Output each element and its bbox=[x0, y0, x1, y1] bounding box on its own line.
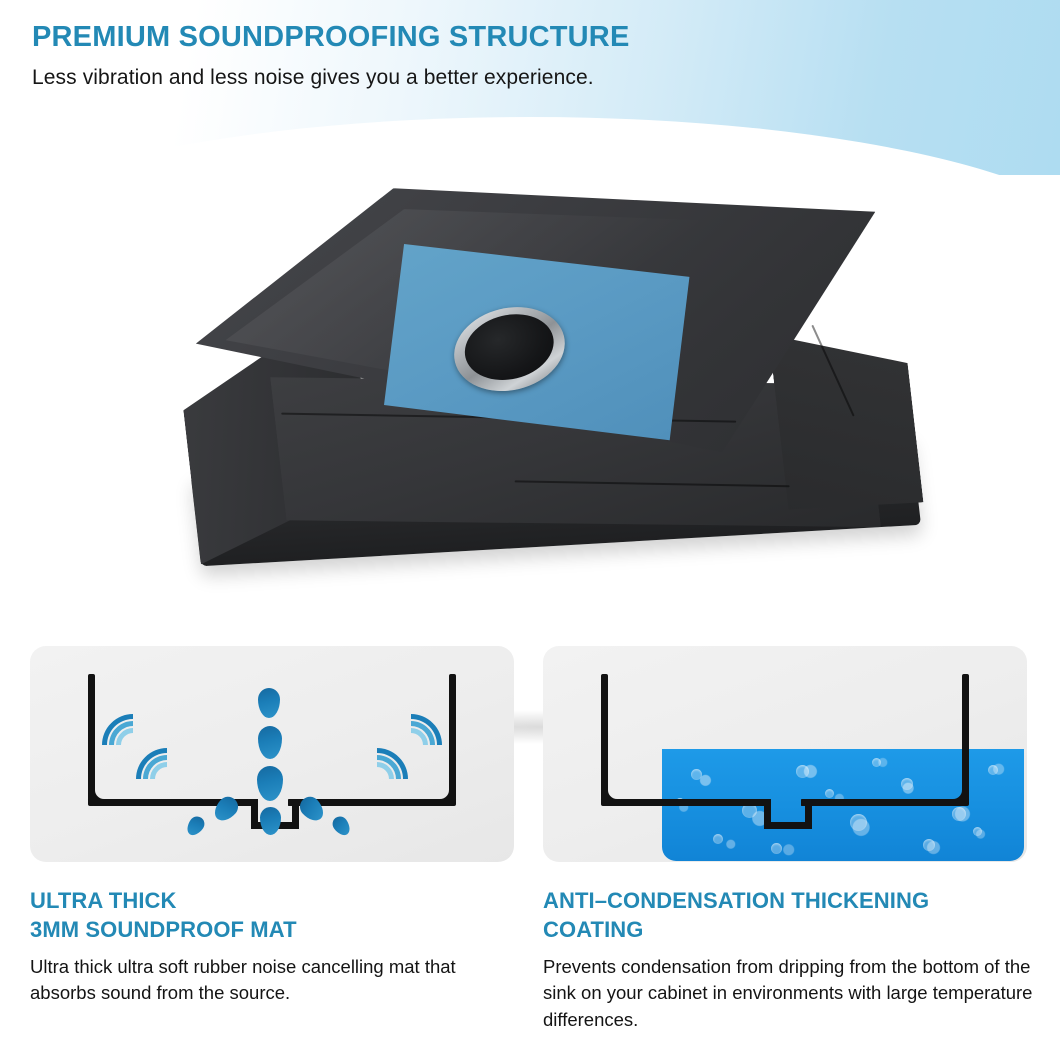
condensation-bubble bbox=[713, 834, 723, 844]
water-drop-icon bbox=[296, 793, 328, 826]
feature-title-line-1: ANTI–CONDENSATION THICKENING bbox=[543, 886, 1033, 915]
feature-title: ULTRA THICK 3MM SOUNDPROOF MAT bbox=[30, 886, 520, 944]
sink-floor-left bbox=[601, 799, 769, 806]
condensation-bubble bbox=[825, 789, 834, 798]
condensation-bubble bbox=[850, 814, 867, 831]
feature-card-anti-condensation bbox=[543, 646, 1027, 862]
feature-title-line-1: ULTRA THICK bbox=[30, 886, 520, 915]
water-drop-icon bbox=[210, 793, 242, 826]
condensation-bubble bbox=[771, 843, 782, 854]
condensation-bubble bbox=[923, 839, 935, 851]
water-drop-icon bbox=[257, 766, 283, 801]
condensation-bubble bbox=[872, 758, 881, 767]
water-drop-icon bbox=[258, 688, 280, 718]
sink-cross-section-diagram bbox=[88, 674, 456, 836]
sink-cross-section-diagram bbox=[601, 674, 969, 836]
water-drop-icon bbox=[184, 814, 208, 839]
condensation-bubble bbox=[796, 765, 809, 778]
condensation-bubble bbox=[901, 778, 913, 790]
feature-card-soundproof-mat bbox=[30, 646, 514, 862]
caption-anti-condensation: ANTI–CONDENSATION THICKENING COATING Pre… bbox=[543, 886, 1033, 1033]
sink-illustration bbox=[149, 115, 931, 694]
water-drop-icon bbox=[260, 807, 281, 835]
notch-floor bbox=[764, 822, 812, 829]
water-drop-icon bbox=[330, 814, 354, 839]
feature-description: Ultra thick ultra soft rubber noise canc… bbox=[30, 954, 520, 1007]
condensation-bubble bbox=[691, 769, 702, 780]
sink-drain-notch bbox=[764, 799, 812, 829]
page-subtitle: Less vibration and less noise gives you … bbox=[32, 66, 630, 90]
caption-soundproof-mat: ULTRA THICK 3MM SOUNDPROOF MAT Ultra thi… bbox=[30, 886, 520, 1007]
feature-title-line-2: 3MM SOUNDPROOF MAT bbox=[30, 915, 520, 944]
condensation-bubble bbox=[988, 765, 998, 775]
feature-description: Prevents condensation from dripping from… bbox=[543, 954, 1033, 1033]
page-title: PREMIUM SOUNDPROOFING STRUCTURE bbox=[32, 22, 630, 54]
product-image bbox=[0, 150, 1060, 655]
header-text-block: PREMIUM SOUNDPROOFING STRUCTURE Less vib… bbox=[32, 22, 630, 90]
condensation-bubble bbox=[973, 827, 982, 836]
water-drop-icon bbox=[258, 726, 282, 759]
feature-title-line-2: COATING bbox=[543, 915, 1033, 944]
condensation-bubble bbox=[952, 807, 966, 821]
sink-floor-right bbox=[801, 799, 969, 806]
feature-title: ANTI–CONDENSATION THICKENING COATING bbox=[543, 886, 1033, 944]
